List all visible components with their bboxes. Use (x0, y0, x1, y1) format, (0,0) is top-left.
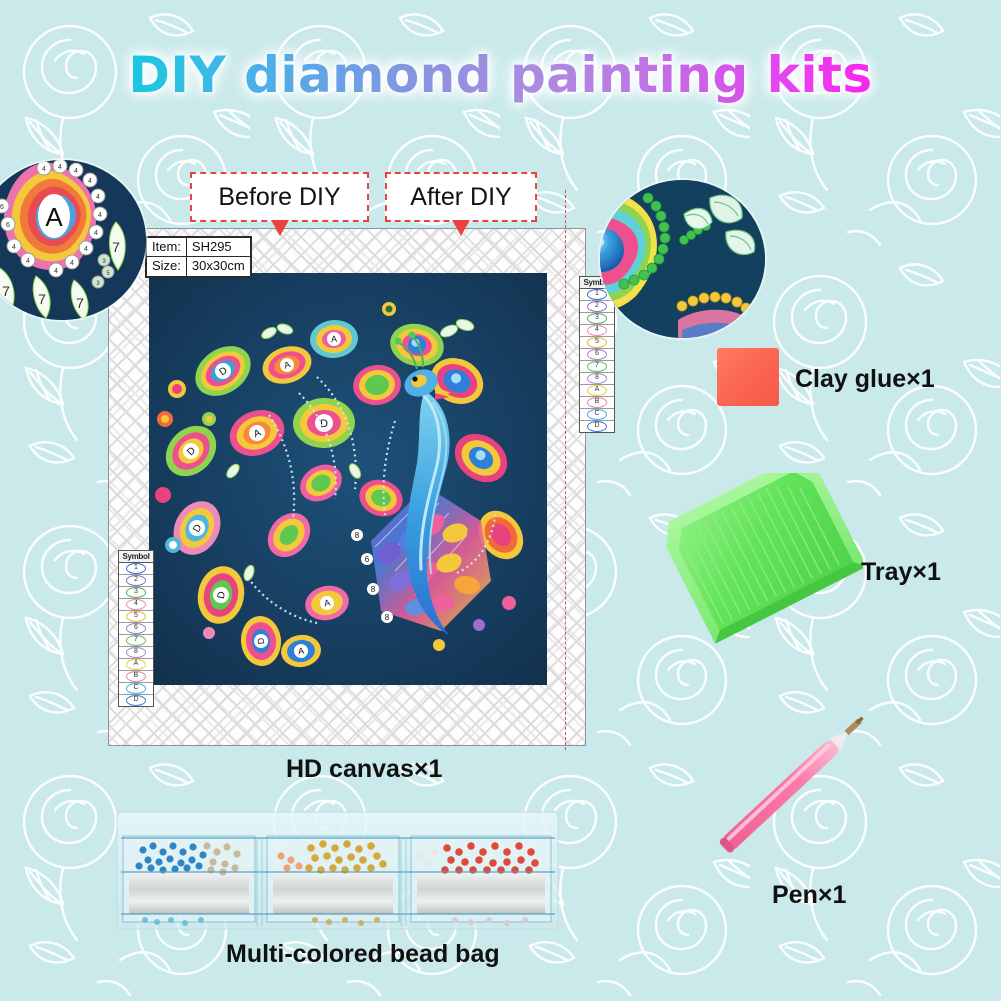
symbol-legend-right-rows: 12345678ABCD (580, 289, 614, 432)
pen-label: Pen×1 (772, 881, 846, 910)
symbol-legend-row-1: 1 (119, 563, 153, 575)
symbol-legend-row-8: 8 (580, 373, 614, 385)
symbol-chip-4: 4 (587, 325, 607, 336)
svg-text:6: 6 (365, 555, 370, 564)
svg-text:A: A (45, 202, 63, 232)
symbol-chip-a: A (587, 385, 607, 396)
symbol-chip-5: 5 (587, 337, 607, 348)
svg-text:7: 7 (112, 239, 120, 255)
tray-label: Tray×1 (861, 558, 941, 587)
symbol-chip-3: 3 (587, 313, 607, 324)
callout-after-pointer-icon (452, 220, 470, 236)
svg-text:8: 8 (371, 585, 376, 594)
svg-text:7: 7 (2, 283, 10, 299)
symbol-legend-row-6: 6 (580, 349, 614, 361)
peacock-artwork: D A A (149, 273, 547, 685)
symbol-legend-row-5: 5 (580, 337, 614, 349)
callout-before-diy: Before DIY (190, 172, 369, 222)
symbol-legend-row-b: B (580, 397, 614, 409)
symbol-legend-row-a: A (119, 659, 153, 671)
symbol-legend-right: Symbol 12345678ABCD (579, 276, 615, 433)
symbol-chip-d: D (126, 695, 146, 706)
symbol-legend-row-c: C (580, 409, 614, 421)
callout-before-pointer-icon (271, 220, 289, 236)
product-info-box: Item: SH295 Size: 30x30cm (145, 236, 252, 278)
symbol-legend-row-2: 2 (119, 575, 153, 587)
size-value: 30x30cm (186, 257, 250, 276)
symbol-chip-c: C (587, 409, 607, 420)
svg-text:4: 4 (70, 260, 74, 267)
symbol-chip-d: D (587, 421, 607, 432)
symbol-legend-left-header: Symbol (119, 551, 153, 563)
symbol-chip-3: 3 (126, 587, 146, 598)
symbol-legend-row-2: 2 (580, 301, 614, 313)
symbol-legend-row-7: 7 (119, 635, 153, 647)
symbol-legend-row-d: D (119, 695, 153, 706)
tray-image (663, 473, 863, 648)
callout-after-label: After DIY (410, 183, 511, 212)
symbol-legend-row-b: B (119, 671, 153, 683)
symbol-legend-row-4: 4 (580, 325, 614, 337)
canvas-artwork-area: D A A (149, 273, 547, 685)
symbol-chip-a: A (126, 659, 146, 670)
svg-text:4: 4 (58, 164, 62, 171)
clay-glue-label: Clay glue×1 (795, 365, 935, 394)
symbol-chip-2: 2 (587, 301, 607, 312)
item-label: Item: (147, 238, 187, 257)
svg-text:D: D (320, 418, 329, 430)
svg-text:4: 4 (94, 230, 98, 237)
poster-canvas: DIY diamond painting kits Before DIY Aft… (0, 0, 1001, 1001)
svg-text:8: 8 (385, 613, 390, 622)
page-title-wrap: DIY diamond painting kits (0, 46, 1001, 104)
symbol-legend-row-3: 3 (119, 587, 153, 599)
clay-glue-image (717, 348, 779, 406)
symbol-legend-left: Symbol 12345678ABCD (118, 550, 154, 707)
symbol-chip-b: B (587, 397, 607, 408)
symbol-legend-row-c: C (119, 683, 153, 695)
svg-text:7: 7 (38, 291, 46, 307)
symbol-chip-b: B (126, 671, 146, 682)
svg-text:7: 7 (76, 295, 84, 311)
bead-bag-image (115, 808, 560, 933)
item-value: SH295 (186, 238, 250, 257)
symbol-legend-row-6: 6 (119, 623, 153, 635)
symbol-chip-6: 6 (587, 349, 607, 360)
hd-canvas-label: HD canvas×1 (286, 755, 442, 784)
symbol-legend-row-8: 8 (119, 647, 153, 659)
symbol-chip-5: 5 (126, 611, 146, 622)
svg-text:4: 4 (54, 268, 58, 275)
symbol-chip-6: 6 (126, 623, 146, 634)
svg-text:4: 4 (84, 246, 88, 253)
symbol-legend-row-7: 7 (580, 361, 614, 373)
svg-text:6: 6 (6, 222, 10, 229)
magnifier-after-diy (600, 180, 765, 338)
svg-text:4: 4 (74, 168, 78, 175)
symbol-chip-1: 1 (126, 563, 146, 574)
symbol-legend-row-5: 5 (119, 611, 153, 623)
callout-after-diy: After DIY (385, 172, 537, 222)
size-label: Size: (147, 257, 187, 276)
svg-text:A: A (331, 334, 338, 344)
svg-text:8: 8 (355, 531, 360, 540)
before-after-divider-line (565, 190, 566, 750)
symbol-legend-row-4: 4 (119, 599, 153, 611)
symbol-chip-8: 8 (126, 647, 146, 658)
symbol-legend-left-rows: 12345678ABCD (119, 563, 153, 706)
hd-canvas-image: D A A (108, 228, 586, 746)
symbol-legend-row-d: D (580, 421, 614, 432)
bead-bag-label: Multi-colored bead bag (226, 940, 500, 969)
page-title: DIY diamond painting kits (128, 46, 872, 104)
svg-text:4: 4 (98, 212, 102, 219)
symbol-legend-row-a: A (580, 385, 614, 397)
symbol-chip-1: 1 (587, 289, 607, 300)
symbol-chip-c: C (126, 683, 146, 694)
symbol-chip-8: 8 (587, 373, 607, 384)
callout-before-label: Before DIY (218, 183, 340, 212)
svg-text:6: 6 (0, 204, 4, 211)
product-size-row: Size: 30x30cm (147, 257, 251, 276)
symbol-chip-4: 4 (126, 599, 146, 610)
symbol-chip-7: 7 (126, 635, 146, 646)
svg-text:4: 4 (96, 194, 100, 201)
symbol-chip-2: 2 (126, 575, 146, 586)
svg-text:4: 4 (12, 244, 16, 251)
svg-text:4: 4 (26, 258, 30, 265)
symbol-chip-7: 7 (587, 361, 607, 372)
symbol-legend-row-3: 3 (580, 313, 614, 325)
pen-image (660, 700, 900, 890)
svg-text:4: 4 (88, 178, 92, 185)
svg-text:4: 4 (42, 166, 46, 173)
product-item-row: Item: SH295 (147, 238, 251, 257)
